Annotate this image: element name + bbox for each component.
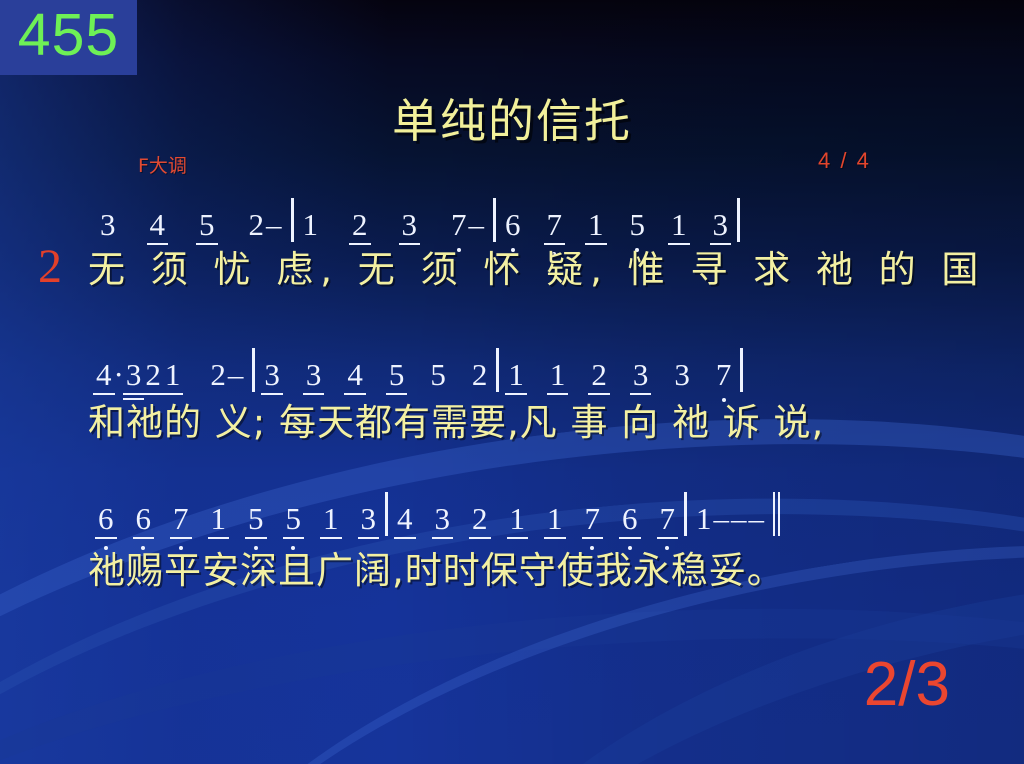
note-1: 1 bbox=[547, 502, 563, 536]
verse-number: 2 bbox=[38, 243, 62, 291]
note-4: 4 bbox=[150, 208, 166, 242]
note-7: 7 bbox=[716, 358, 732, 392]
note-5: 5 bbox=[286, 502, 302, 536]
key-signature-label: F大调 bbox=[138, 151, 187, 178]
time-signature-label: 4 / 4 bbox=[818, 148, 871, 174]
note-1: 1 bbox=[671, 208, 687, 242]
duration-dash: – bbox=[749, 502, 765, 536]
duration-dash: – bbox=[266, 208, 282, 242]
note-5: 5 bbox=[199, 208, 215, 242]
duration-dash: – bbox=[228, 358, 244, 392]
duration-dash: – bbox=[731, 502, 747, 536]
note-1: 1 bbox=[550, 358, 566, 392]
note-2: 2 bbox=[249, 208, 265, 242]
note-1: 1 bbox=[165, 358, 181, 392]
note-2: 2 bbox=[210, 358, 226, 392]
duration-dash: – bbox=[469, 208, 485, 242]
note-3: 3 bbox=[402, 208, 418, 242]
notation-line-1: 3452–1237–671513 bbox=[100, 198, 749, 242]
note-6: 6 bbox=[505, 208, 521, 242]
note-3: 3 bbox=[126, 358, 142, 392]
note-5: 5 bbox=[430, 358, 446, 392]
note-3: 3 bbox=[713, 208, 729, 242]
note-3: 3 bbox=[361, 502, 377, 536]
note-6: 6 bbox=[622, 502, 638, 536]
lyrics-line-1: 无 须 忧 虑, 无 须 怀 疑, 惟 寻 求 祂 的 国 bbox=[88, 251, 985, 288]
page-indicator: 2/3 bbox=[864, 654, 950, 716]
lyrics-line-3: 祂赐平安深且广阔,时时保守使我永稳妥。 bbox=[88, 552, 785, 589]
note-1: 1 bbox=[588, 208, 604, 242]
note-5: 5 bbox=[248, 502, 264, 536]
note-3: 3 bbox=[633, 358, 649, 392]
hymn-slide: 455 单纯的信托 F大调 4 / 4 2 3452–1237–671513 无… bbox=[0, 0, 1024, 764]
notation-line-2: 4·3212–334552112337 bbox=[96, 348, 752, 392]
note-1: 1 bbox=[696, 502, 712, 536]
augmentation-dot: · bbox=[112, 358, 126, 392]
note-2: 2 bbox=[472, 502, 488, 536]
note-7: 7 bbox=[547, 208, 563, 242]
note-4: 4 bbox=[397, 502, 413, 536]
lyrics-line-2: 和祂的 义; 每天都有需要,凡 事 向 祂 诉 说, bbox=[88, 404, 824, 441]
barline bbox=[496, 348, 499, 392]
note-2: 2 bbox=[352, 208, 368, 242]
note-2: 2 bbox=[472, 358, 488, 392]
note-3: 3 bbox=[306, 358, 322, 392]
note-3: 3 bbox=[435, 502, 451, 536]
final-double-barline bbox=[773, 492, 782, 536]
hymn-number-badge: 455 bbox=[0, 0, 137, 75]
note-1: 1 bbox=[303, 208, 319, 242]
note-6: 6 bbox=[136, 502, 152, 536]
barline bbox=[252, 348, 255, 392]
duration-dash: – bbox=[714, 502, 730, 536]
notation-line-3: 66715513432117671––– bbox=[98, 492, 784, 536]
barline bbox=[385, 492, 388, 536]
note-5: 5 bbox=[389, 358, 405, 392]
note-7: 7 bbox=[660, 502, 676, 536]
barline bbox=[737, 198, 740, 242]
barline bbox=[684, 492, 687, 536]
note-2: 2 bbox=[591, 358, 607, 392]
note-7: 7 bbox=[451, 208, 467, 242]
page-title: 单纯的信托 bbox=[0, 98, 1024, 144]
barline bbox=[493, 198, 496, 242]
note-5: 5 bbox=[630, 208, 646, 242]
note-6: 6 bbox=[98, 502, 114, 536]
note-4: 4 bbox=[96, 358, 112, 392]
note-3: 3 bbox=[674, 358, 690, 392]
barline bbox=[291, 198, 294, 242]
note-3: 3 bbox=[100, 208, 116, 242]
hymn-number-text: 455 bbox=[18, 6, 119, 69]
note-7: 7 bbox=[585, 502, 601, 536]
note-1: 1 bbox=[508, 358, 524, 392]
note-1: 1 bbox=[323, 502, 339, 536]
barline bbox=[740, 348, 743, 392]
note-2: 2 bbox=[145, 358, 161, 392]
note-3: 3 bbox=[264, 358, 280, 392]
note-1: 1 bbox=[510, 502, 526, 536]
note-4: 4 bbox=[347, 358, 363, 392]
note-1: 1 bbox=[211, 502, 227, 536]
note-7: 7 bbox=[173, 502, 189, 536]
